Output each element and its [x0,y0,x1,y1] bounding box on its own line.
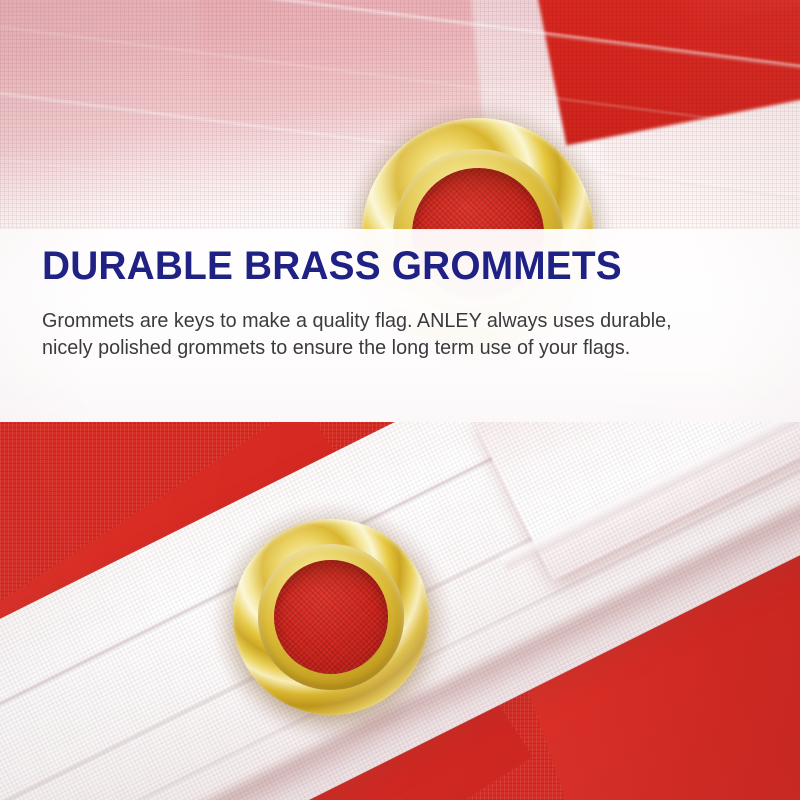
grommet-hole [274,560,388,674]
hole-inner-lip-shadow [420,169,536,203]
product-feature-image: DURABLE BRASS GROMMETS Grommets are keys… [0,0,800,800]
hole-inner-lip-shadow [281,561,381,591]
white-text-band: DURABLE BRASS GROMMETS Grommets are keys… [0,229,800,422]
headline: DURABLE BRASS GROMMETS [42,246,622,286]
body-copy: Grommets are keys to make a quality flag… [42,307,679,361]
bottom-grommet [233,519,429,715]
